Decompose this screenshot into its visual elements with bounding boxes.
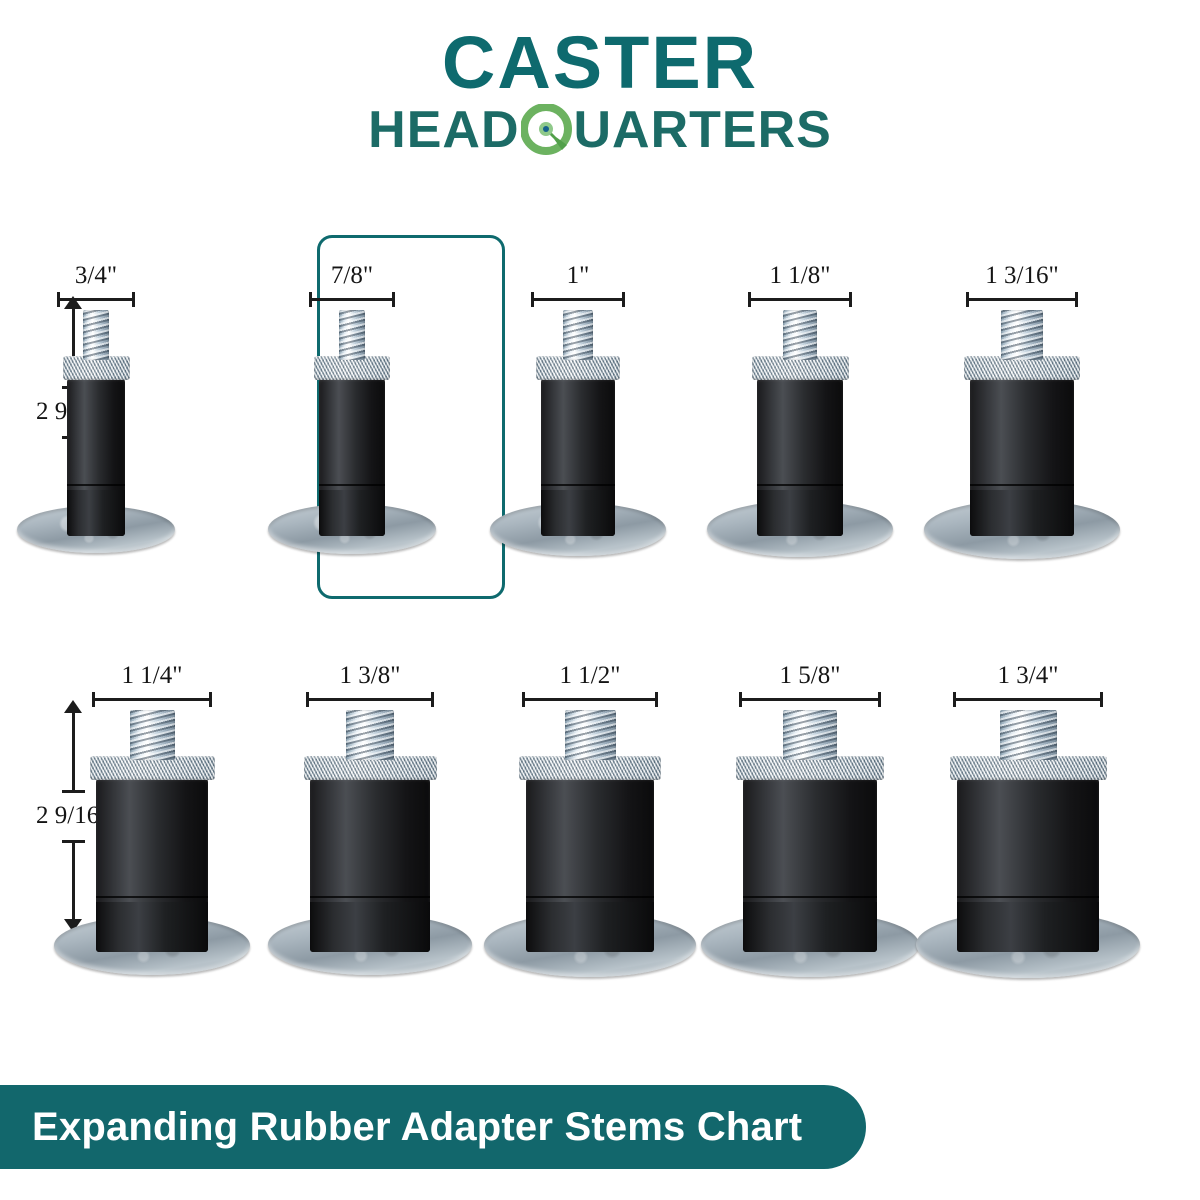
- threaded-stem: [1000, 710, 1057, 760]
- rubber-seam: [743, 896, 877, 898]
- threaded-stem: [339, 310, 365, 360]
- dimension-tick: [878, 692, 881, 707]
- dimension-line: [309, 298, 395, 301]
- logo-head-text: HEAD: [368, 104, 519, 156]
- rubber-body: [96, 778, 208, 952]
- threaded-stem: [565, 710, 616, 760]
- dimension-line: [306, 698, 434, 701]
- rubber-lower-section: [96, 902, 208, 952]
- stem-diameter-dimension: [966, 292, 1078, 306]
- rubber-seam: [96, 896, 208, 898]
- threaded-stem: [563, 310, 593, 360]
- stem-diameter-label: 1 3/4": [898, 662, 1158, 690]
- stem-diameter-label: 1 3/16": [892, 262, 1152, 290]
- rubber-body: [541, 378, 615, 536]
- stem-diameter-dimension: [739, 692, 881, 706]
- rubber-body: [957, 778, 1099, 952]
- stem-item[interactable]: 7/8": [222, 262, 482, 562]
- dimension-line: [92, 698, 212, 701]
- rubber-seam: [541, 484, 615, 486]
- threaded-stem: [83, 310, 109, 360]
- rubber-body: [970, 378, 1074, 536]
- dimension-line: [953, 698, 1103, 701]
- dimension-tick: [392, 292, 395, 307]
- rubber-lower-section: [743, 902, 877, 952]
- dimension-line: [966, 298, 1078, 301]
- rubber-body: [743, 778, 877, 952]
- stem-item[interactable]: 3/4": [0, 262, 226, 562]
- logo-headquarters-row: HEAD UARTERS: [0, 104, 1200, 156]
- stem-diameter-dimension: [522, 692, 658, 706]
- logo-uarters-text: UARTERS: [574, 104, 832, 156]
- rubber-body: [310, 778, 430, 952]
- stem-item[interactable]: 1 3/4": [898, 662, 1158, 962]
- stem-diameter-dimension: [953, 692, 1103, 706]
- threaded-stem: [130, 710, 175, 760]
- dimension-tick: [132, 292, 135, 307]
- rubber-lower-section: [757, 490, 843, 536]
- stem-diameter-dimension: [306, 692, 434, 706]
- rubber-lower-section: [319, 490, 385, 536]
- stem-diameter-dimension: [309, 292, 395, 306]
- rubber-body: [67, 378, 125, 536]
- dimension-tick: [849, 292, 852, 307]
- stem-item[interactable]: 1": [448, 262, 708, 562]
- stem-diameter-dimension: [92, 692, 212, 706]
- rubber-lower-section: [970, 490, 1074, 536]
- rubber-body: [526, 778, 654, 952]
- rubber-body: [757, 378, 843, 536]
- dimension-tick: [1075, 292, 1078, 307]
- dimension-tick: [431, 692, 434, 707]
- rubber-seam: [957, 896, 1099, 898]
- stem-item[interactable]: 1 3/16": [892, 262, 1152, 562]
- rubber-seam: [67, 484, 125, 486]
- stem-diameter-label: 1 1/8": [670, 262, 930, 290]
- stem-diameter-label: 7/8": [222, 262, 482, 290]
- rubber-lower-section: [310, 902, 430, 952]
- threaded-stem: [1001, 310, 1043, 360]
- stem-diameter-dimension: [531, 292, 625, 306]
- rubber-seam: [526, 896, 654, 898]
- dimension-line: [739, 698, 881, 701]
- threaded-stem: [346, 710, 394, 760]
- dimension-line: [522, 698, 658, 701]
- rubber-seam: [757, 484, 843, 486]
- stem-diameter-label: 3/4": [0, 262, 226, 290]
- threaded-stem: [783, 310, 817, 360]
- dimension-line: [531, 298, 625, 301]
- rubber-lower-section: [526, 902, 654, 952]
- logo-caster-text: CASTER: [0, 28, 1200, 98]
- rubber-lower-section: [67, 490, 125, 536]
- stem-diameter-label: 1": [448, 262, 708, 290]
- dimension-tick: [209, 692, 212, 707]
- rubber-seam: [310, 896, 430, 898]
- threaded-stem: [783, 710, 837, 760]
- dimension-tick: [1100, 692, 1103, 707]
- dimension-tick: [622, 292, 625, 307]
- rubber-lower-section: [541, 490, 615, 536]
- rubber-body: [319, 378, 385, 536]
- stem-diameter-dimension: [57, 292, 135, 306]
- chart-title-text: Expanding Rubber Adapter Stems Chart: [0, 1105, 802, 1150]
- dimension-line: [748, 298, 852, 301]
- brand-logo: CASTER HEAD UARTERS: [0, 28, 1200, 156]
- rubber-seam: [970, 484, 1074, 486]
- caster-wheel-q-icon: [521, 104, 573, 156]
- chart-title-banner: Expanding Rubber Adapter Stems Chart: [0, 1085, 866, 1169]
- stem-diameter-dimension: [748, 292, 852, 306]
- rubber-lower-section: [957, 902, 1099, 952]
- stem-item[interactable]: 1 1/8": [670, 262, 930, 562]
- rubber-seam: [319, 484, 385, 486]
- dimension-line: [57, 298, 135, 301]
- dimension-tick: [655, 692, 658, 707]
